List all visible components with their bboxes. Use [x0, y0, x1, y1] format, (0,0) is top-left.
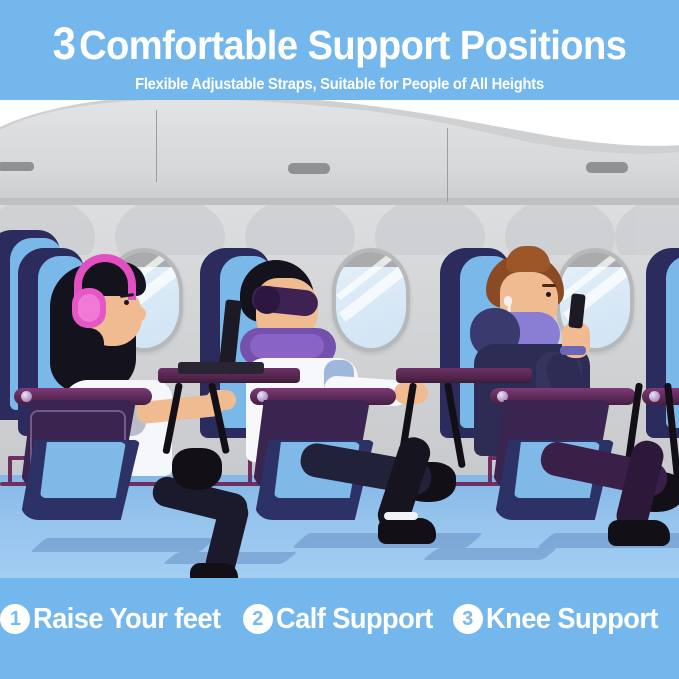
header-wave-divider [0, 100, 679, 152]
seat-base-cushion [40, 442, 126, 498]
eyebrow [542, 284, 556, 287]
step-number-badge: 1 [0, 604, 30, 634]
floor-shadow [422, 548, 557, 560]
page-subtitle: Flexible Adjustable Straps, Suitable for… [17, 76, 662, 94]
step-label: Calf Support [276, 603, 433, 636]
wristband [560, 346, 586, 355]
step-label: Knee Support [486, 603, 658, 636]
step-number-badge: 2 [243, 604, 273, 634]
sleep-mask-strap [254, 286, 280, 314]
page-title: 3Comfortable Support Positions [24, 0, 655, 66]
passenger-1-shoe [190, 563, 238, 578]
laptop-keyboard [178, 362, 264, 374]
armrest-knob[interactable] [21, 391, 32, 402]
eye [546, 292, 551, 297]
armrest-knob[interactable] [649, 391, 660, 402]
passenger-3-shoe [608, 520, 670, 546]
step-number-badge: 3 [453, 604, 483, 634]
hair-top [506, 246, 550, 272]
cabin-illustration [0, 100, 679, 578]
headphone-earcup-inner [78, 294, 100, 322]
header-banner: 3Comfortable Support Positions Flexible … [0, 0, 679, 100]
passenger-2-shoe [378, 518, 436, 544]
step-label: Raise Your feet [33, 603, 220, 636]
bin-latch-icon [0, 162, 34, 171]
bin-latch-icon [288, 163, 330, 174]
infographic-page: 3Comfortable Support Positions Flexible … [0, 0, 679, 679]
bin-latch-icon [586, 162, 628, 173]
nose [132, 306, 146, 322]
title-number: 3 [53, 18, 76, 69]
title-text: Comfortable Support Positions [79, 22, 626, 68]
foot-sling-pouch [172, 448, 222, 490]
sock [384, 512, 418, 520]
footer-item-2: 2 Calf Support [243, 603, 453, 636]
armrest [642, 388, 679, 405]
floor-shadow [30, 538, 216, 552]
footer-item-1: 1 Raise Your feet [0, 603, 242, 636]
tray-table [396, 368, 532, 383]
footer-caption-bar: 1 Raise Your feet 2 Calf Support 3 Knee … [0, 578, 679, 679]
eye [124, 300, 129, 305]
footer-items: 1 Raise Your feet 2 Calf Support 3 Knee … [0, 578, 679, 642]
seat-rail [8, 456, 12, 486]
neck-pillow-highlight [250, 334, 324, 358]
footer-item-3: 3 Knee Support [453, 603, 679, 636]
